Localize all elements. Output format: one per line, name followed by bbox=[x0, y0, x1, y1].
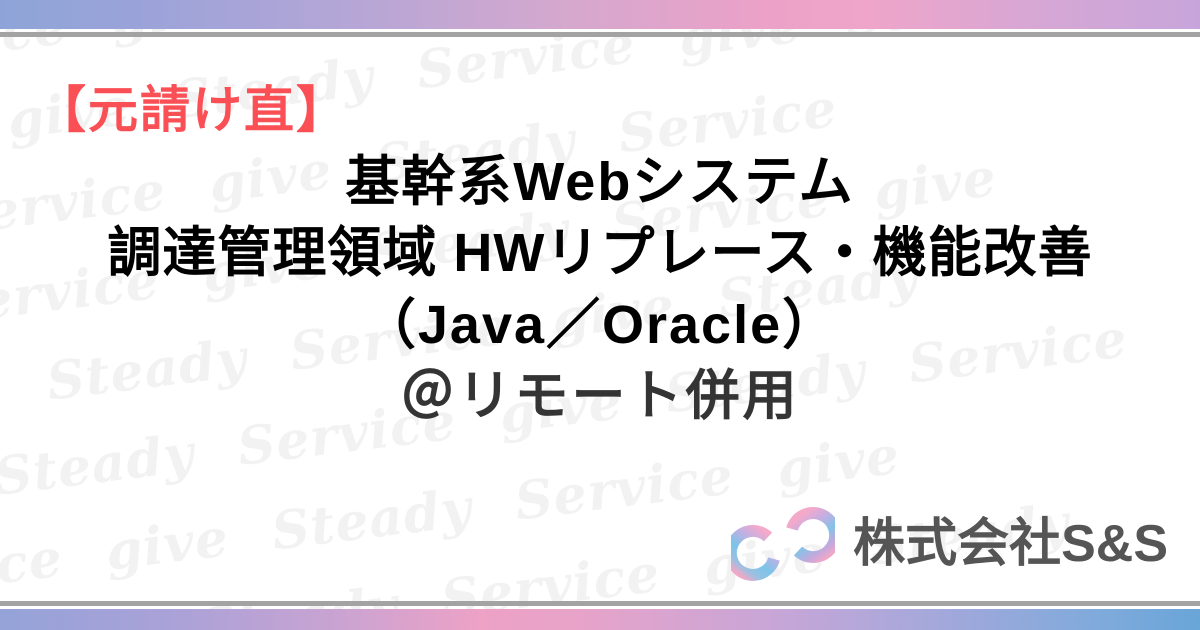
top-divider-rule bbox=[0, 32, 1200, 37]
bottom-gradient-bar bbox=[0, 609, 1200, 630]
title-line-2: 調達管理領域 HWリプレース・機能改善 bbox=[0, 218, 1200, 289]
title-line-3: （Java／Oracle） bbox=[0, 290, 1200, 361]
page-title: 基幹系Webシステム 調達管理領域 HWリプレース・機能改善 （Java／Ora… bbox=[0, 147, 1200, 432]
status-badge: 【元請け直】 bbox=[36, 85, 348, 135]
interlocking-rings-logo bbox=[731, 496, 835, 592]
job-posting-card: SteadyServicegiveSteadyServicegive Servi… bbox=[0, 0, 1200, 630]
top-gradient-bar bbox=[0, 0, 1200, 29]
title-line-4: ＠リモート併用 bbox=[0, 361, 1200, 432]
bottom-divider-rule bbox=[0, 601, 1200, 606]
title-line-1: 基幹系Webシステム bbox=[0, 147, 1200, 218]
company-name: 株式会社S&S bbox=[853, 518, 1168, 570]
brand-lockup: 株式会社S&S bbox=[731, 496, 1168, 592]
